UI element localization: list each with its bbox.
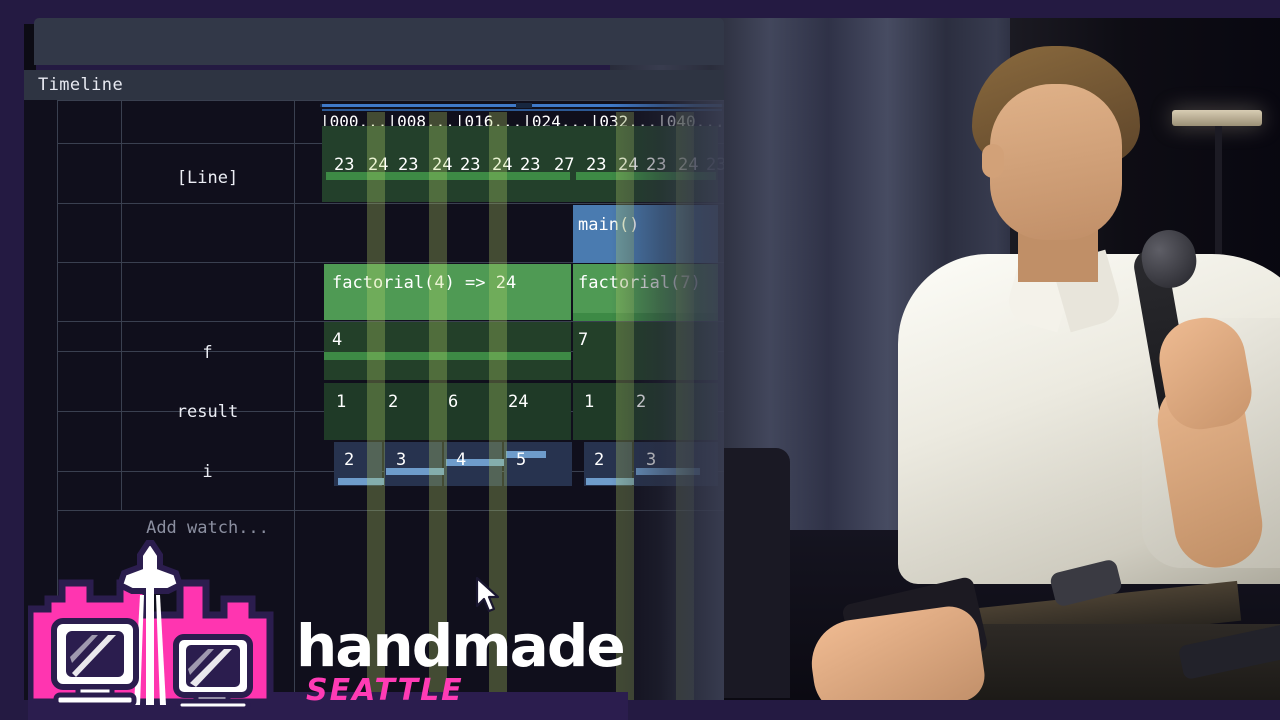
variable-value-i[interactable]: 5 [516,450,526,470]
line-value[interactable]: 24 [492,155,512,175]
variable-value-i[interactable]: 2 [344,450,354,470]
space-needle-icon [28,537,328,712]
scrollbar-track[interactable] [322,109,722,111]
callstack-label-factorial-7[interactable]: factorial(7) [578,273,701,293]
variable-value-result[interactable]: 2 [388,392,398,412]
logo-subtitle: SEATTLE [306,673,464,708]
variable-value-result[interactable]: 1 [584,392,594,412]
screen: Timeline [Line] f result i Add watch... [0,0,1280,720]
line-value[interactable]: 23 [706,155,724,175]
line-value[interactable]: 24 [678,155,698,175]
line-value[interactable]: 23 [398,155,418,175]
variable-value-result[interactable]: 6 [448,392,458,412]
speaker [760,18,1280,700]
variable-value-result[interactable]: 2 [636,392,646,412]
line-value[interactable]: 23 [646,155,666,175]
variable-value-result[interactable]: 1 [336,392,346,412]
variable-sparkline-i [386,468,444,475]
variable-underline-f [324,352,571,360]
variable-sparkline-i [338,478,384,485]
variable-track-f [324,322,571,380]
mouse-pointer-icon [474,576,502,616]
variable-track-i [384,442,442,486]
line-value[interactable]: 24 [368,155,388,175]
variable-value-i[interactable]: 4 [456,450,466,470]
row-label-result[interactable]: result [121,402,294,422]
variable-track-i [504,442,572,486]
callstack-label-factorial-4[interactable]: factorial(4) => 24 [332,273,516,293]
variable-sparkline-i [586,478,634,485]
event-logo: handmade SEATTLE [28,530,628,720]
line-value[interactable]: 24 [618,155,638,175]
row-label-i[interactable]: i [121,462,294,482]
row-label-line[interactable]: [Line] [121,168,294,188]
line-value[interactable]: 23 [460,155,480,175]
speaker-left-hand [806,603,988,700]
variable-value-i[interactable]: 3 [396,450,406,470]
line-value[interactable]: 23 [334,155,354,175]
variable-value-i[interactable]: 3 [646,450,656,470]
grid-divider [121,100,122,510]
variable-track-f [573,322,718,380]
variable-value-f[interactable]: 4 [332,330,342,350]
logo-wordmark: handmade [296,612,624,680]
line-value[interactable]: 23 [586,155,606,175]
variable-sparkline-i [446,459,504,466]
line-value[interactable]: 23 [520,155,540,175]
line-value[interactable]: 27 [554,155,574,175]
variable-underline-f [573,313,718,321]
variable-value-f[interactable]: 7 [578,330,588,350]
toolbar[interactable] [34,18,724,65]
variable-value-result[interactable]: 24 [508,392,528,412]
callstack-label-main[interactable]: main() [578,215,639,235]
speaker-ear [982,144,1004,178]
line-value[interactable]: 24 [432,155,452,175]
variable-value-i[interactable]: 2 [594,450,604,470]
panel-title: Timeline [24,70,724,100]
row-label-f[interactable]: f [121,343,294,363]
scrollbar-handle[interactable] [516,103,532,108]
speaker-face [990,84,1122,240]
